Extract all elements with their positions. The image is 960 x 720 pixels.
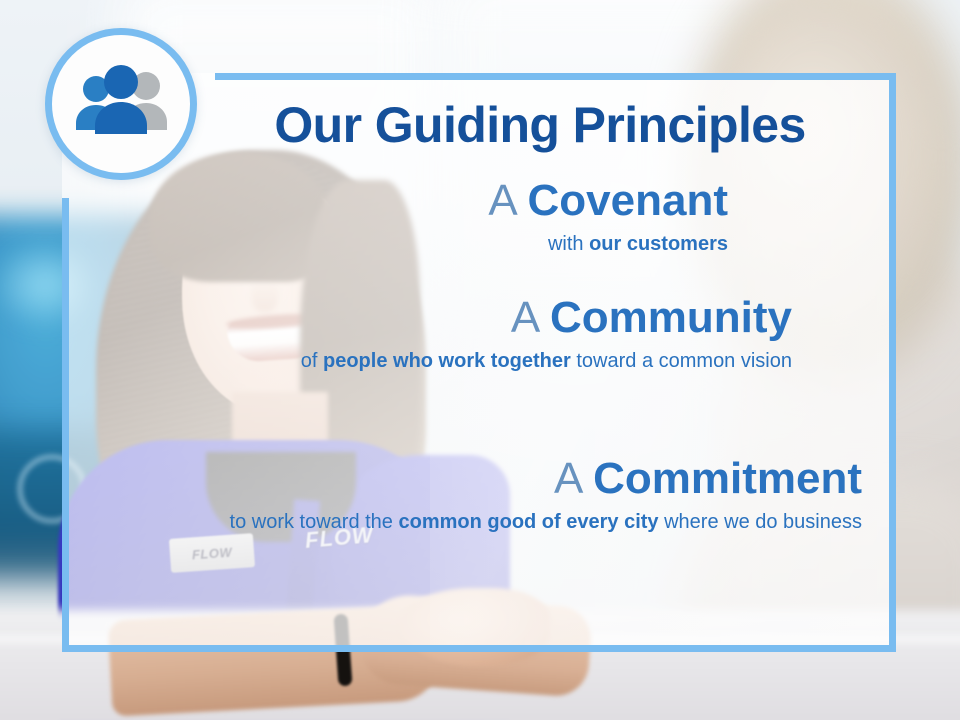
page-title: Our Guiding Principles (220, 96, 860, 154)
subtext-plain: toward a common vision (571, 350, 792, 372)
principle-subtext: of people who work together toward a com… (62, 348, 792, 374)
subtext-plain: where we do business (659, 511, 862, 533)
content-area: Our Guiding Principles A Covenant with o… (62, 73, 896, 647)
guiding-principles-banner: FLOW FLOW Three people group icon (0, 0, 960, 720)
principle-subtext: to work toward the common good of every … (62, 509, 862, 535)
principle-subtext: with our customers (62, 231, 728, 257)
subtext-plain: with (548, 233, 589, 255)
subtext-plain: to work toward the (230, 511, 399, 533)
principle-heading: A Covenant (62, 178, 728, 224)
subtext-emphasis: our customers (589, 233, 728, 255)
subtext-emphasis: people who work together (323, 350, 571, 372)
principle-article: A (511, 293, 538, 342)
principle-word: Community (550, 293, 792, 342)
subtext-emphasis: common good of every city (398, 511, 658, 533)
principle-commitment: A Commitment to work toward the common g… (62, 456, 862, 536)
principle-heading: A Community (62, 295, 792, 341)
principle-word: Covenant (528, 176, 728, 225)
principle-article: A (488, 176, 515, 225)
principle-heading: A Commitment (62, 456, 862, 502)
principle-article: A (554, 454, 581, 503)
subtext-plain: of (301, 350, 323, 372)
principle-word: Commitment (593, 454, 862, 503)
principle-covenant: A Covenant with our customers (62, 178, 728, 258)
principle-community: A Community of people who work together … (62, 295, 792, 375)
